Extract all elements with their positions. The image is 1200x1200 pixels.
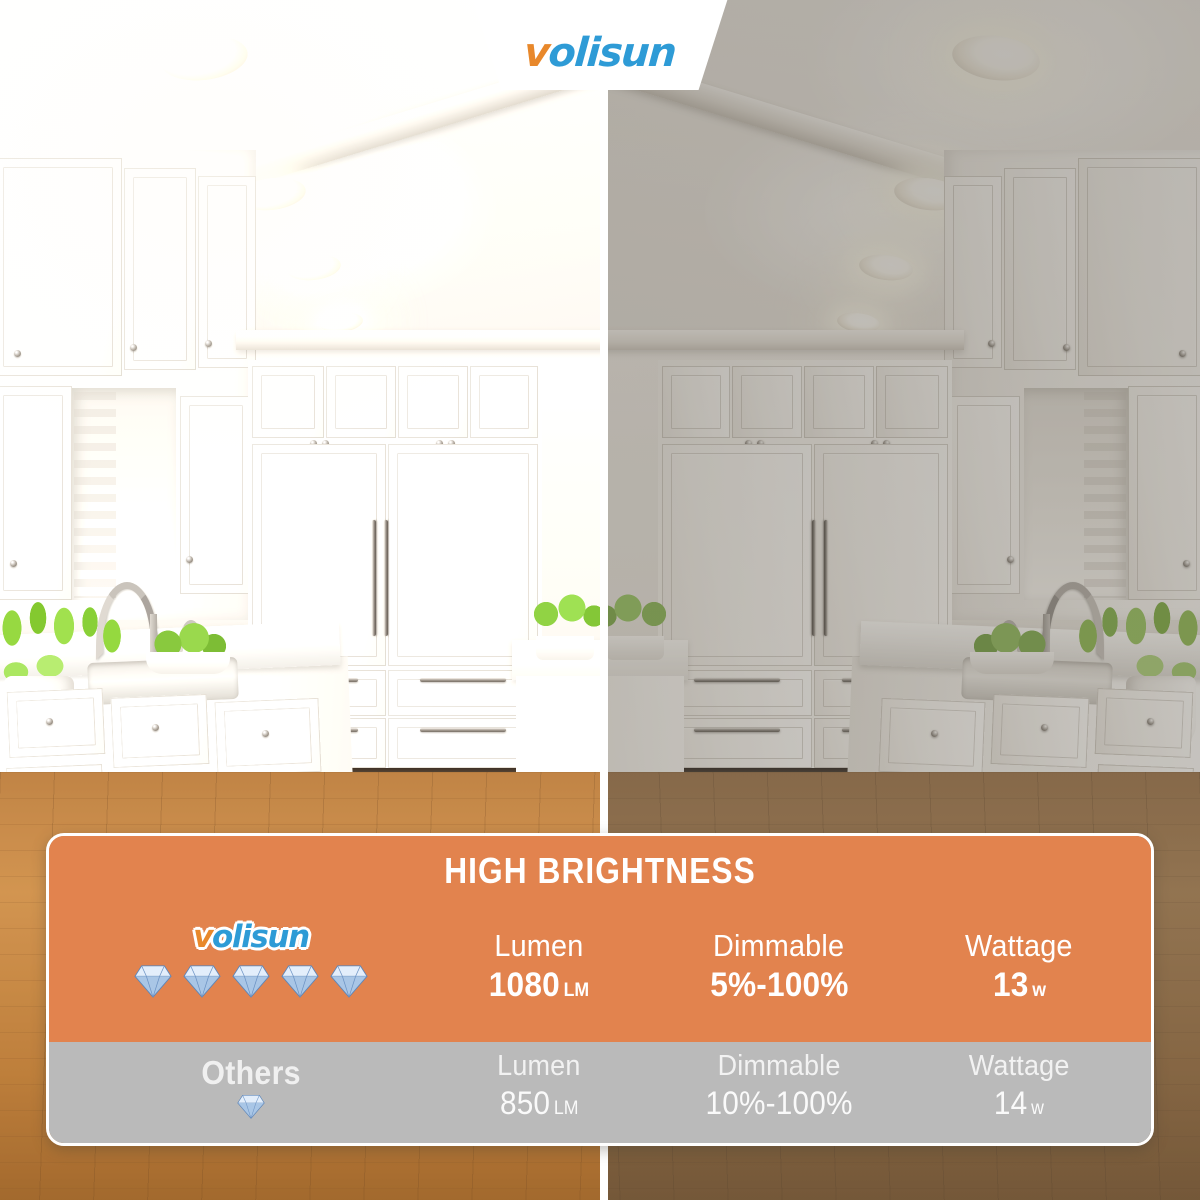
pedestal-stand <box>146 652 230 674</box>
cabinet-knob <box>186 556 193 563</box>
island-knob <box>46 718 53 725</box>
crown-molding-secondary <box>607 330 964 350</box>
island-drawer <box>878 698 985 776</box>
spec-unit: w <box>1031 1098 1044 1119</box>
cabinet-knob <box>988 340 995 347</box>
cabinet-door-upper <box>398 366 468 438</box>
drawer-pull <box>694 728 780 732</box>
crown-molding-secondary <box>236 330 601 350</box>
cabinet-knob <box>1063 344 1070 351</box>
logo-text-olisun: olisun <box>212 919 309 955</box>
diamond-icon <box>330 964 368 998</box>
diamond-icon <box>232 964 270 998</box>
logo-letter-v: v <box>193 919 212 955</box>
diamond-icon <box>134 964 172 998</box>
cabinet-door <box>124 168 196 370</box>
brand-logo-banner: volisun <box>472 0 728 90</box>
potted-herbs <box>528 586 601 642</box>
cabinet-door <box>0 158 122 376</box>
spec-columns-volisun: Lumen 1080LM Dimmable 5%-100% Wattage 13… <box>419 928 1139 1005</box>
table-row-volisun: HIGH BRIGHTNESS volisun Lumen 1080LM Di <box>49 836 1151 1042</box>
cabinet-door <box>1128 386 1200 600</box>
spec-number: 14 <box>994 1085 1027 1121</box>
table-row-others: Others Lumen 850LM Dimmable 10%-100% Wat… <box>49 1042 1151 1143</box>
cabinet-door-upper <box>252 366 324 438</box>
spec-unit: LM <box>554 1098 579 1119</box>
cabinet-knob <box>205 340 212 347</box>
cabinet-knob <box>1007 556 1014 563</box>
spec-label: Lumen <box>494 928 583 964</box>
island-knob <box>152 724 159 731</box>
spec-label: Dimmable <box>713 928 844 964</box>
spec-lumen-others: Lumen 850LM <box>419 1050 659 1122</box>
spec-dimmable-others: Dimmable 10%-100% <box>659 1050 899 1122</box>
logo-text-olisun: olisun <box>547 30 677 76</box>
spec-number: 13 <box>992 966 1028 1004</box>
cabinet-door-upper <box>876 366 948 438</box>
island-drawer <box>7 688 106 758</box>
spec-label: Dimmable <box>718 1050 841 1083</box>
refrigerator-handle <box>824 520 828 636</box>
island-knob <box>262 730 269 737</box>
cabinet-door-upper <box>804 366 874 438</box>
spec-wattage-others: Wattage 14w <box>899 1050 1139 1122</box>
rating-gems-volisun <box>101 964 401 998</box>
spec-label: Wattage <box>969 1050 1070 1083</box>
cabinet-door <box>1078 158 1200 376</box>
pedestal-stand <box>970 652 1054 674</box>
refrigerator-door-right <box>388 444 538 666</box>
diamond-icon <box>281 964 319 998</box>
rating-gems-others <box>101 1094 401 1119</box>
spec-dimmable-volisun: Dimmable 5%-100% <box>659 928 899 1005</box>
drawer-pull <box>694 678 780 682</box>
cabinet-knob <box>1179 350 1186 357</box>
brand-cell-volisun: volisun <box>101 922 401 998</box>
spec-columns-others: Lumen 850LM Dimmable 10%-100% Wattage 14… <box>419 1050 1139 1122</box>
brand-cell-others: Others <box>101 1054 401 1119</box>
potted-herbs <box>607 586 672 642</box>
spec-unit: w <box>1032 980 1046 1001</box>
spec-value: 14w <box>994 1085 1044 1122</box>
planter-pot <box>607 636 664 660</box>
refrigerator-handle <box>812 520 816 636</box>
cabinet-door-upper <box>732 366 802 438</box>
cabinet-door-upper <box>662 366 730 438</box>
cabinet-door <box>180 396 252 594</box>
others-label: Others <box>201 1054 301 1092</box>
refrigerator-handle <box>384 520 388 636</box>
island-drawer <box>214 698 321 776</box>
cabinet-knob <box>130 344 137 351</box>
cabinet-knob <box>1183 560 1190 567</box>
drawer-pull <box>420 728 506 732</box>
spec-unit: LM <box>564 980 590 1001</box>
backsplash-tile <box>74 392 116 598</box>
backsplash-tile <box>1084 392 1126 598</box>
spec-label: Lumen <box>497 1050 580 1083</box>
spec-wattage-volisun: Wattage 13w <box>899 928 1139 1005</box>
cabinet-knob <box>14 350 21 357</box>
cabinet-door-upper <box>326 366 396 438</box>
diamond-icon <box>237 1094 265 1119</box>
island-knob <box>1147 718 1154 725</box>
spec-value: 850LM <box>500 1085 578 1122</box>
spec-lumen-volisun: Lumen 1080LM <box>419 928 659 1005</box>
cabinet-door <box>948 396 1020 594</box>
spec-value: 1080LM <box>489 966 589 1005</box>
island-drawer <box>111 694 210 768</box>
spec-value: 13w <box>992 966 1045 1005</box>
island-drawer <box>1095 688 1194 758</box>
refrigerator-handle <box>372 520 376 636</box>
volisun-logo: volisun <box>193 922 309 953</box>
volisun-logo: volisun <box>523 33 677 73</box>
product-comparison-image: volisun HIGH BRIGHTNESS volisun Lumen <box>0 0 1200 1200</box>
island-knob <box>1041 724 1048 731</box>
island-knob <box>931 730 938 737</box>
diamond-icon <box>183 964 221 998</box>
planter-pot <box>536 636 594 660</box>
spec-value: 5%-100% <box>710 966 848 1005</box>
island-drawer <box>991 694 1090 768</box>
spec-number: 1080 <box>489 966 560 1004</box>
cabinet-door <box>1004 168 1076 370</box>
cabinet-knob <box>10 560 17 567</box>
drawer-front <box>662 718 812 768</box>
refrigerator-door-right <box>662 444 812 666</box>
spec-number: 850 <box>500 1085 550 1121</box>
spec-value: 10%-100% <box>705 1085 852 1122</box>
card-title: HIGH BRIGHTNESS <box>115 850 1085 892</box>
cabinet-door <box>0 386 72 600</box>
cabinet-door-upper <box>470 366 538 438</box>
specification-comparison-card: HIGH BRIGHTNESS volisun Lumen 1080LM Di <box>46 833 1154 1146</box>
spec-label: Wattage <box>965 928 1073 964</box>
drawer-pull <box>420 678 506 682</box>
